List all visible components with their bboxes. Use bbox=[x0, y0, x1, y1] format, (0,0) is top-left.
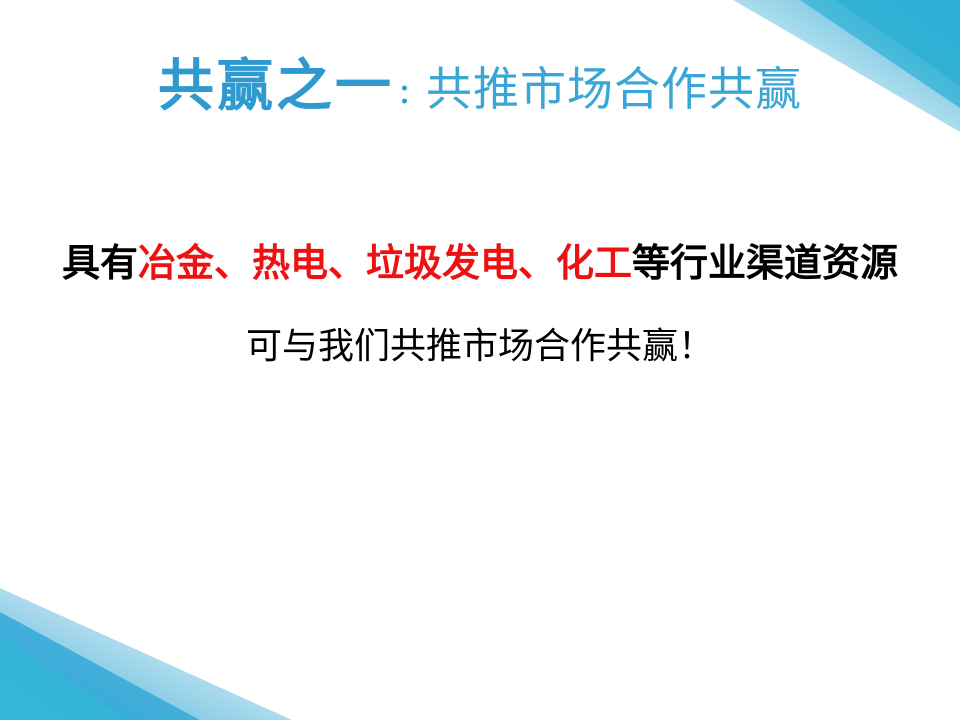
bottom-left-mid-wedge bbox=[0, 612, 200, 720]
body-line-1-highlight: 冶金、热电、垃圾发电、化工 bbox=[138, 243, 632, 285]
body-line-2: 可与我们共推市场合作共赢！ bbox=[0, 318, 960, 374]
slide-title-subtitle: 共推市场合作共赢 bbox=[426, 62, 802, 116]
slide-title-separator: ： bbox=[394, 80, 426, 110]
body-line-1-prefix: 具有 bbox=[62, 243, 138, 285]
body-line-1: 具有冶金、热电、垃圾发电、化工等行业渠道资源 bbox=[0, 236, 960, 292]
presentation-slide: 共赢之一：共推市场合作共赢 具有冶金、热电、垃圾发电、化工等行业渠道资源 可与我… bbox=[0, 0, 960, 720]
bottom-left-solid-wedge bbox=[0, 636, 128, 720]
slide-body: 具有冶金、热电、垃圾发电、化工等行业渠道资源 可与我们共推市场合作共赢！ bbox=[0, 236, 960, 374]
slide-title: 共赢之一：共推市场合作共赢 bbox=[0, 58, 960, 114]
body-line-1-suffix: 等行业渠道资源 bbox=[632, 243, 898, 285]
bottom-left-pale-wedge bbox=[0, 588, 292, 720]
slide-title-main: 共赢之一 bbox=[158, 53, 394, 119]
